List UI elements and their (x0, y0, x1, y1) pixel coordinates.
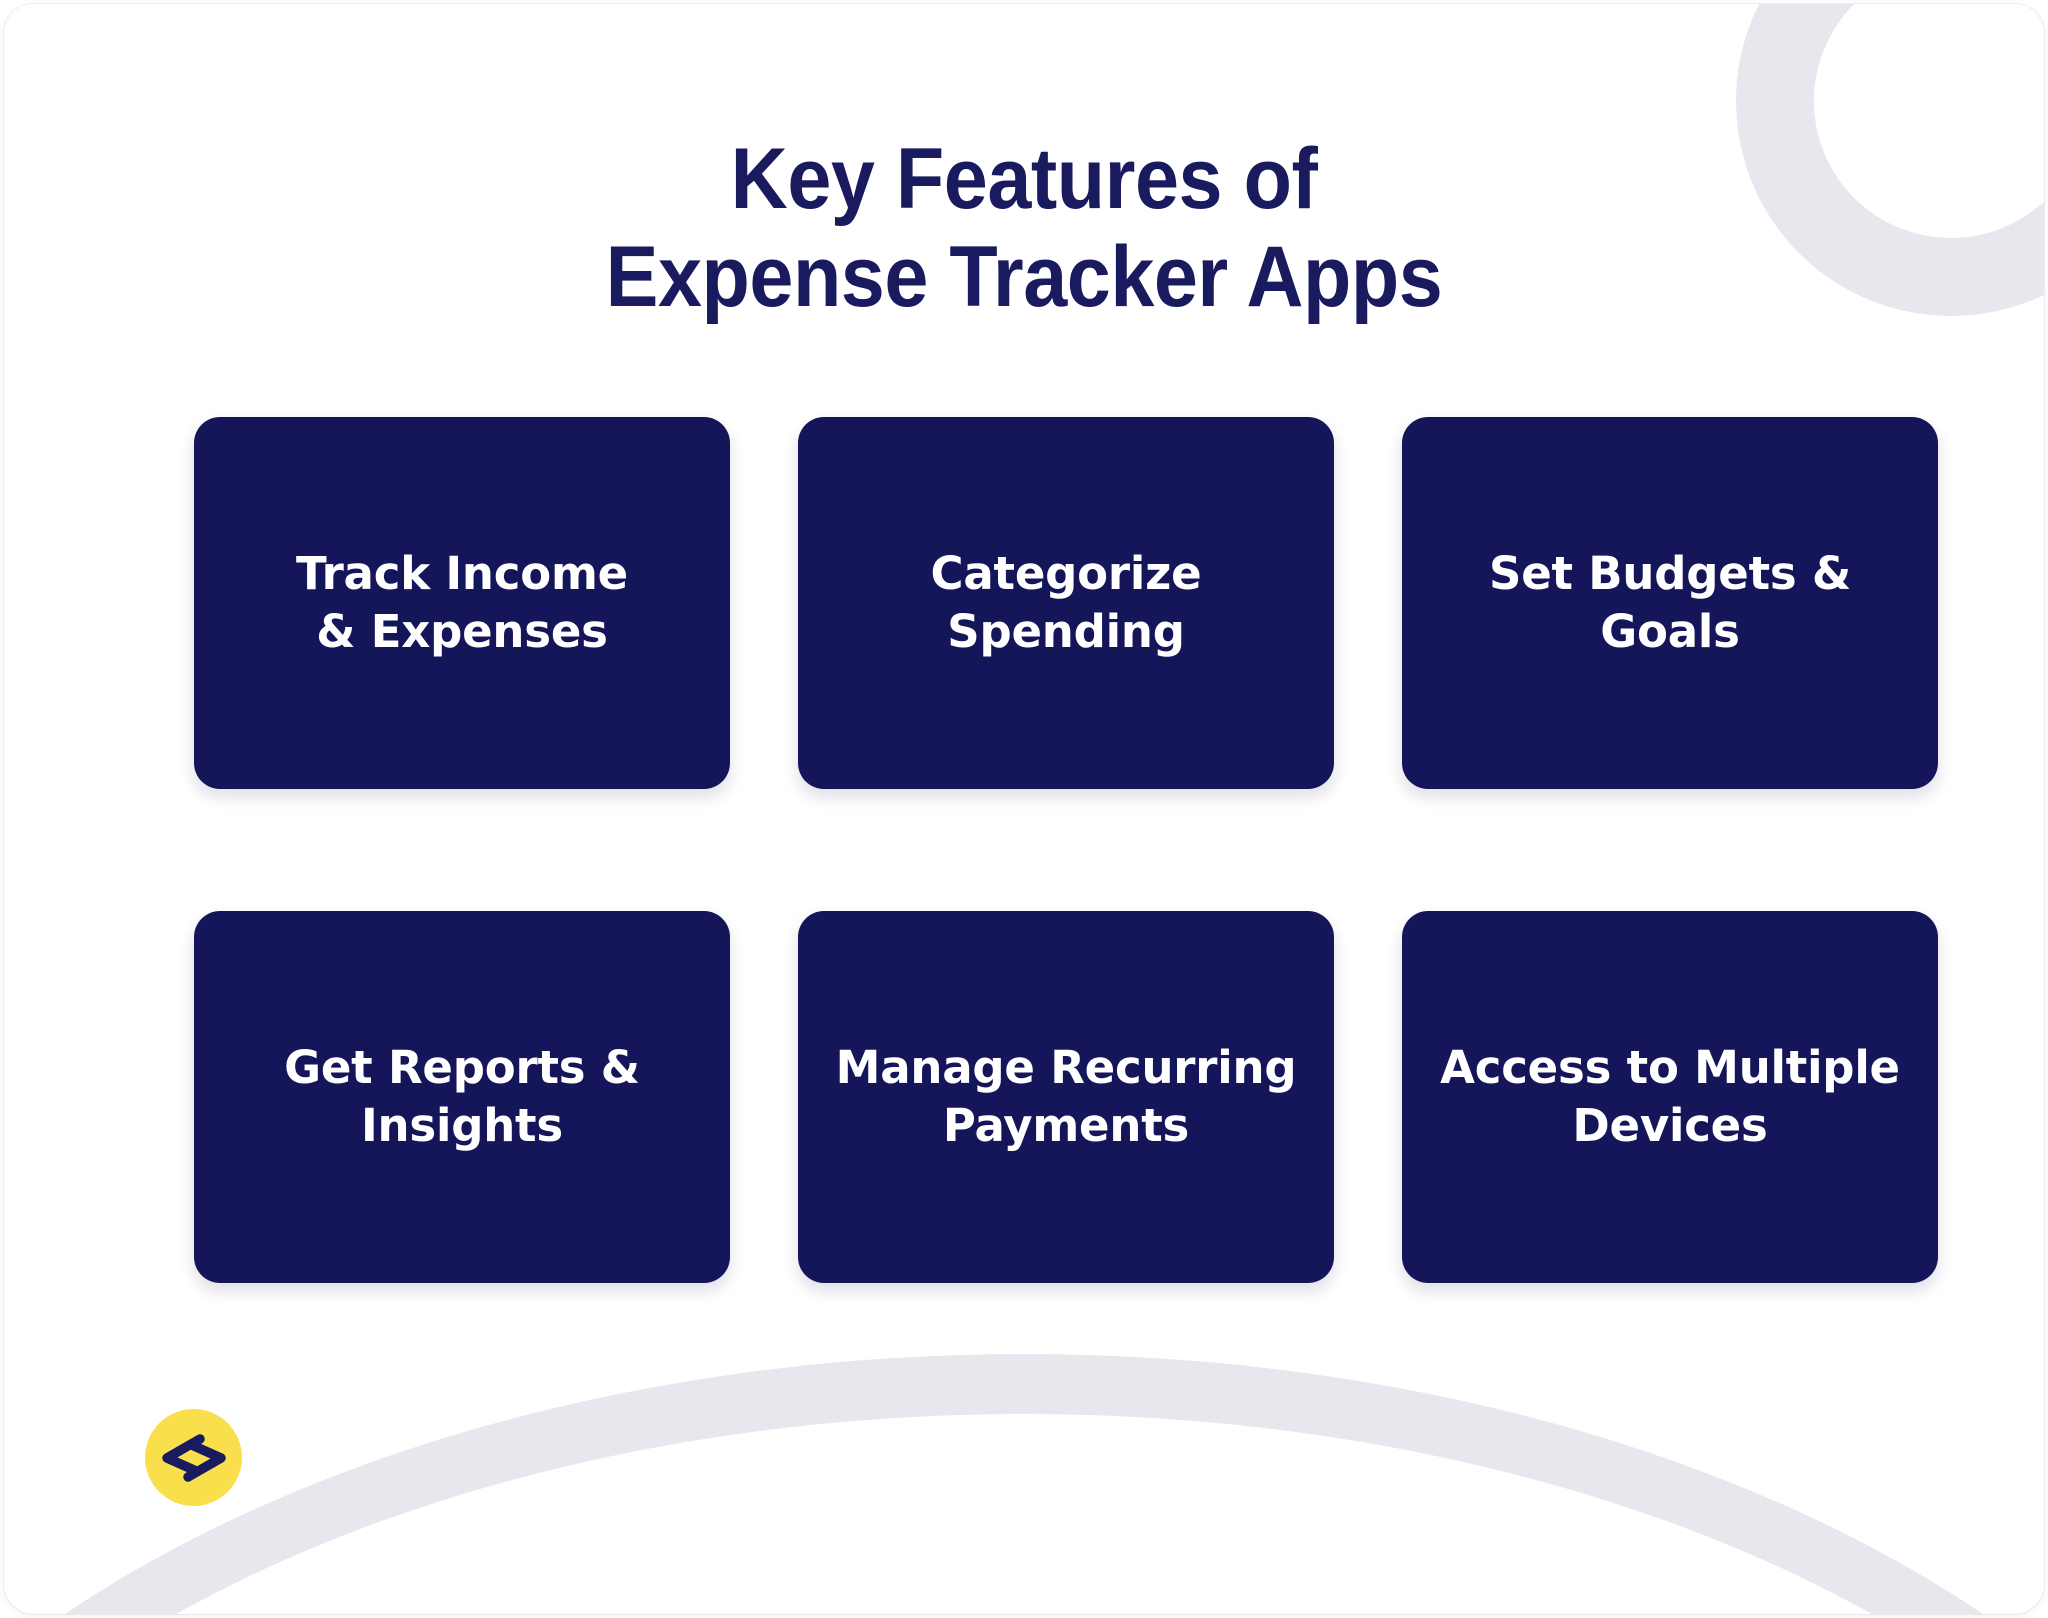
feature-card-label: Set Budgets & Goals (1489, 545, 1851, 662)
decorative-arc-bottom (4, 1354, 2044, 1614)
feature-card-track-income: Track Income & Expenses (194, 417, 730, 789)
feature-card-label: Access to Multiple Devices (1440, 1039, 1900, 1156)
feature-card-label: Get Reports & Insights (284, 1039, 640, 1156)
brand-chevron-mark-icon (160, 1432, 228, 1484)
infographic-panel: Key Features of Expense Tracker Apps Tra… (4, 4, 2044, 1614)
page-title-line-1: Key Features of (86, 130, 1963, 228)
feature-card-access-multiple-devices: Access to Multiple Devices (1402, 911, 1938, 1283)
page-title-line-2: Expense Tracker Apps (86, 228, 1963, 326)
feature-card-categorize-spending: Categorize Spending (798, 417, 1334, 789)
feature-card-set-budgets: Set Budgets & Goals (1402, 417, 1938, 789)
feature-card-label: Categorize Spending (931, 545, 1202, 662)
page-title: Key Features of Expense Tracker Apps (86, 130, 1963, 326)
feature-card-manage-recurring-payments: Manage Recurring Payments (798, 911, 1334, 1283)
feature-grid: Track Income & Expenses Categorize Spend… (194, 417, 1866, 1283)
feature-card-get-reports: Get Reports & Insights (194, 911, 730, 1283)
brand-logo (145, 1409, 242, 1506)
feature-card-label: Manage Recurring Payments (836, 1039, 1297, 1156)
feature-card-label: Track Income & Expenses (296, 545, 628, 662)
